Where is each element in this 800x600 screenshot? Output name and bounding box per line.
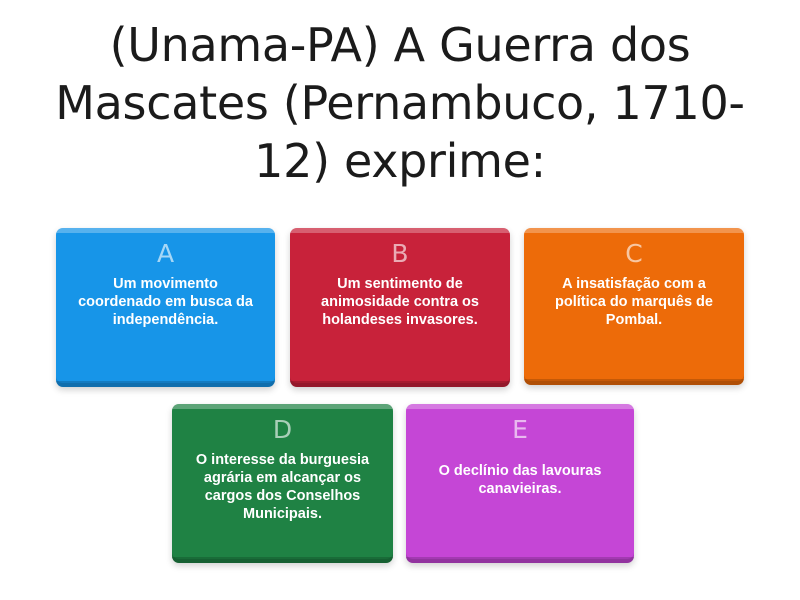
- answer-text-e: O declínio das lavouras canavieiras.: [416, 462, 624, 498]
- answer-text-c: A insatisfação com a política do marquês…: [534, 275, 734, 329]
- answer-letter-b: B: [391, 238, 408, 270]
- answer-options-grid: A Um movimento coordenado em busca da in…: [0, 0, 800, 600]
- answer-card-d[interactable]: D O interesse da burguesia agrária em al…: [172, 404, 393, 563]
- answer-letter-e: E: [512, 414, 528, 446]
- answer-card-b[interactable]: B Um sentimento de animosidade contra os…: [290, 228, 510, 387]
- quiz-screen: (Unama-PA) A Guerra dos Mascates (Pernam…: [0, 0, 800, 600]
- answer-letter-c: C: [625, 238, 642, 270]
- answer-letter-d: D: [273, 414, 292, 446]
- answer-card-a[interactable]: A Um movimento coordenado em busca da in…: [56, 228, 275, 387]
- answer-letter-a: A: [157, 238, 174, 270]
- answer-card-e[interactable]: E O declínio das lavouras canavieiras.: [406, 404, 634, 563]
- answer-text-a: Um movimento coordenado em busca da inde…: [66, 275, 265, 329]
- answer-text-b: Um sentimento de animosidade contra os h…: [300, 275, 500, 329]
- answer-text-d: O interesse da burguesia agrária em alca…: [182, 451, 383, 523]
- answer-card-c[interactable]: C A insatisfação com a política do marqu…: [524, 228, 744, 385]
